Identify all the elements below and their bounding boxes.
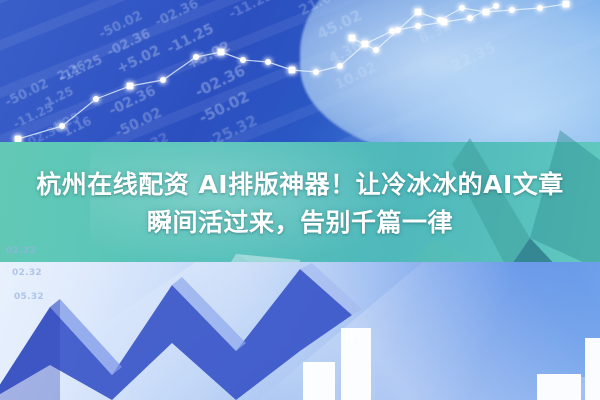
ticker-value-small: 05.32: [14, 292, 44, 302]
network-node: [160, 77, 166, 83]
network-node: [459, 5, 465, 11]
network-edge: [444, 18, 470, 22]
network-node: [265, 59, 271, 65]
network-edge: [163, 57, 196, 80]
network-edge: [292, 70, 316, 72]
network-edge: [486, 10, 512, 12]
promo-banner: -50.02-11.25-02.362.261.254.25-50.02-02.…: [0, 0, 600, 400]
network-edge: [268, 62, 292, 70]
network-node: [218, 49, 225, 56]
network-edge: [512, 8, 540, 10]
network-node: [389, 28, 395, 34]
network-node: [313, 69, 319, 75]
network-node: [493, 3, 499, 9]
zigzag-ribbon-graphic: [0, 255, 600, 400]
network-node: [349, 35, 356, 42]
network-edge: [365, 31, 392, 44]
network-node: [127, 83, 134, 90]
network-node: [240, 57, 246, 63]
network-node: [415, 9, 422, 16]
network-node: [93, 96, 99, 102]
network-edge: [462, 8, 486, 12]
ticker-value-small: 02.32: [6, 246, 36, 256]
title-line-1: 杭州在线配资 AI排版神器！让冷冰冰的AI文章: [0, 166, 600, 204]
network-edge: [540, 4, 566, 8]
network-node: [537, 5, 543, 11]
network-edge: [196, 52, 221, 57]
network-node: [395, 27, 401, 33]
network-edge: [130, 80, 163, 86]
network-node: [289, 67, 296, 74]
network-edge: [243, 60, 268, 62]
network-node: [337, 63, 343, 69]
network-node: [373, 47, 379, 53]
ribbon-shade-1: [0, 299, 60, 400]
ticker-value-small: 02.32: [12, 268, 42, 278]
network-edge: [340, 44, 365, 66]
network-node: [193, 54, 199, 60]
banner-title: 杭州在线配资 AI排版神器！让冷冰冰的AI文章 瞬间活过来，告别千篇一律: [0, 166, 600, 242]
network-edge: [440, 8, 462, 20]
network-node: [509, 7, 515, 13]
network-node: [437, 17, 443, 23]
network-edge: [316, 66, 340, 72]
network-node: [362, 41, 369, 48]
network-edge: [96, 86, 130, 99]
title-line-2: 瞬间活过来，告别千篇一律: [0, 204, 600, 242]
network-node: [415, 23, 421, 29]
network-node: [483, 9, 490, 16]
network-node: [563, 1, 570, 8]
network-node: [467, 15, 473, 21]
